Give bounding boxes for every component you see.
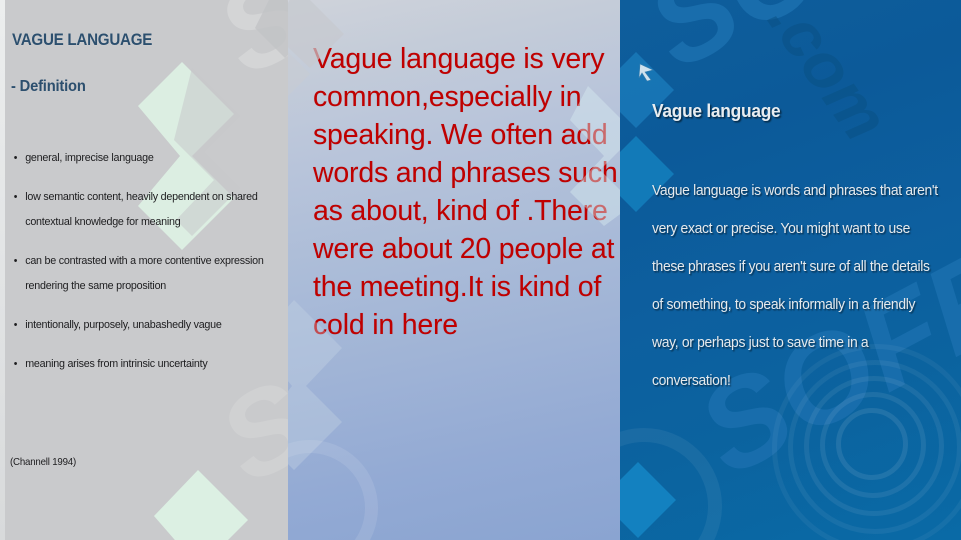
right-panel: SOFT .com SOFF Vague [620, 0, 961, 540]
bullet-dot-icon: • [14, 146, 17, 171]
bullet-dot-icon: • [14, 313, 17, 338]
list-item: • intentionally, purposely, unabashedly … [10, 313, 272, 338]
watermark-text-dotcom: .com [754, 0, 905, 154]
list-item-label: general, imprecise language [25, 152, 153, 164]
list-item: • can be contrasted with a more contenti… [10, 249, 272, 299]
left-panel: SO SO VAGUE LAN [0, 0, 288, 540]
citation-text: (Channell 1994) [10, 457, 76, 468]
watermark-ring-center [288, 440, 378, 540]
list-item-label: meaning arises from intrinsic uncertaint… [25, 358, 207, 370]
page-subtitle: - Definition [11, 78, 86, 96]
right-panel-title: Vague language [652, 100, 780, 122]
bullet-dot-icon: • [14, 185, 17, 210]
arrow-bullet-icon [638, 62, 656, 82]
center-paragraph: Vague language is very common,especially… [313, 40, 618, 344]
right-panel-paragraph: Vague language is words and phrases that… [652, 172, 939, 400]
left-edge-strip [0, 0, 5, 540]
bullet-dot-icon: • [14, 249, 17, 274]
page-title: VAGUE LANGUAGE [12, 31, 152, 50]
watermark-ring-1 [836, 408, 908, 480]
watermark-text-soft: SOFT [626, 0, 961, 96]
watermark-ring-left [620, 428, 722, 540]
definition-bullet-list: • general, imprecise language • low sema… [10, 146, 286, 391]
watermark-diamond-accent-bottom [620, 462, 684, 540]
list-item: • meaning arises from intrinsic uncertai… [10, 352, 272, 377]
list-item: • low semantic content, heavily dependen… [10, 185, 272, 235]
list-item-label: can be contrasted with a more contentive… [25, 255, 263, 292]
center-panel: Vague language is very common,especially… [288, 0, 620, 540]
slide-canvas: SO SO VAGUE LAN [0, 0, 961, 540]
list-item-label: intentionally, purposely, unabashedly va… [25, 319, 221, 331]
list-item-label: low semantic content, heavily dependent … [25, 191, 257, 228]
watermark-ring-2 [820, 392, 926, 498]
list-item: • general, imprecise language [10, 146, 272, 171]
bullet-dot-icon: • [14, 352, 17, 377]
